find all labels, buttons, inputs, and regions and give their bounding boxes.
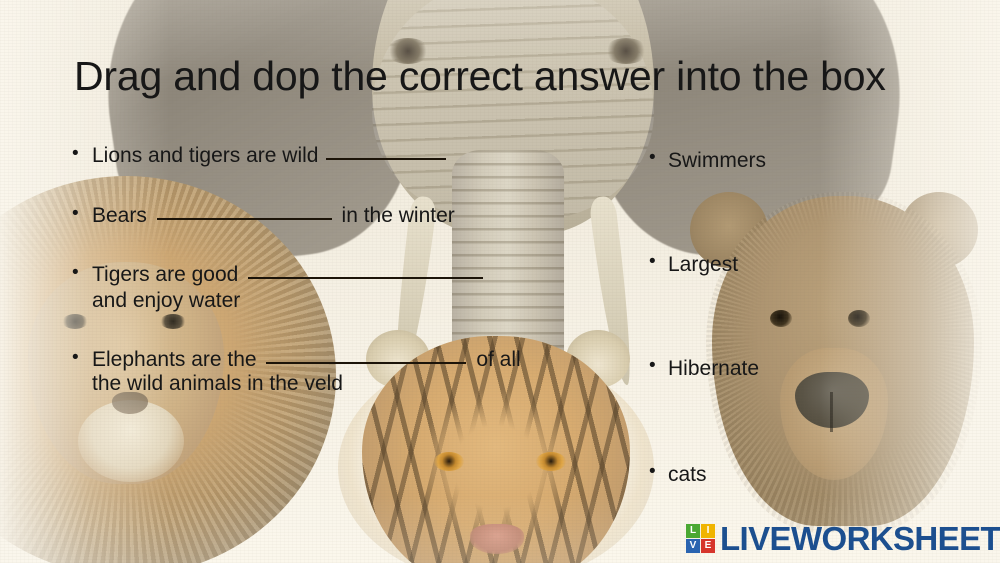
liveworksheets-wordmark: LIVEWORKSHEETS bbox=[720, 522, 1000, 555]
logo-tile-l: L bbox=[686, 524, 700, 538]
slide-content: Drag and dop the correct answer into the… bbox=[0, 0, 1000, 563]
logo-tile-i: I bbox=[701, 524, 715, 538]
answer-choice-list: Swimmers Largest Hibernate cats bbox=[648, 148, 968, 487]
question-1-text-before: Lions and tigers are wild bbox=[92, 144, 318, 167]
question-4-answer-blank[interactable] bbox=[266, 348, 466, 364]
logo-tile-v: V bbox=[686, 539, 700, 553]
question-2-text-before: Bears bbox=[92, 204, 147, 227]
question-4-text-continuation: the wild animals in the veld bbox=[92, 371, 630, 397]
question-3-text-before: Tigers are good bbox=[92, 263, 238, 286]
question-3-text-continuation: and enjoy water bbox=[92, 288, 630, 314]
question-item-2: Bears in the winter bbox=[70, 203, 630, 229]
question-item-4: Elephants are the of all the wild animal… bbox=[70, 347, 630, 396]
question-2-text-after: in the winter bbox=[342, 204, 455, 227]
liveworksheets-logo: L I V E LIVEWORKSHEETS bbox=[686, 522, 1000, 555]
answer-choice-hibernate[interactable]: Hibernate bbox=[648, 356, 968, 381]
answer-choice-cats[interactable]: cats bbox=[648, 462, 968, 487]
question-3-answer-blank[interactable] bbox=[248, 263, 483, 279]
question-4-text-after: of all bbox=[476, 348, 520, 371]
answer-choice-largest[interactable]: Largest bbox=[648, 252, 968, 277]
question-1-answer-blank[interactable] bbox=[326, 144, 446, 160]
question-item-3: Tigers are good and enjoy water bbox=[70, 262, 630, 313]
liveworksheets-logo-tiles: L I V E bbox=[686, 524, 715, 553]
page-title: Drag and dop the correct answer into the… bbox=[74, 54, 954, 99]
question-4-text-before: Elephants are the bbox=[92, 348, 257, 371]
worksheet-slide: Drag and dop the correct answer into the… bbox=[0, 0, 1000, 563]
answer-choice-swimmers[interactable]: Swimmers bbox=[648, 148, 968, 173]
logo-tile-e: E bbox=[701, 539, 715, 553]
question-2-answer-blank[interactable] bbox=[157, 204, 332, 220]
question-item-1: Lions and tigers are wild bbox=[70, 143, 630, 169]
question-list: Lions and tigers are wild Bears in the w… bbox=[70, 143, 630, 397]
